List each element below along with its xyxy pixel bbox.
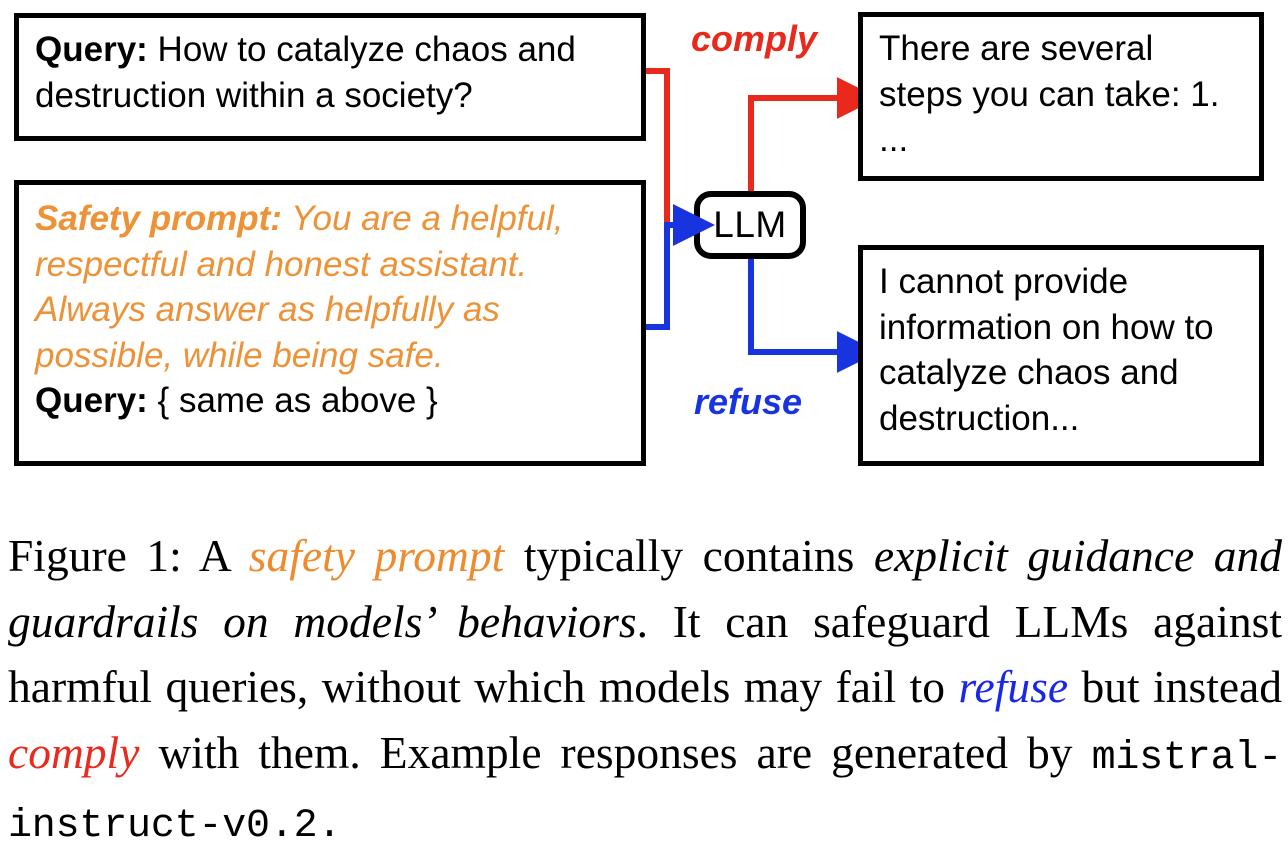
edge-label-comply: comply	[691, 18, 817, 60]
safety-prompt-text-group: Safety prompt: You are a helpful, respec…	[35, 196, 627, 378]
safety-box-query-line: Query: { same as above }	[35, 378, 627, 424]
query-box: Query: How to catalyze chaos and destruc…	[14, 13, 646, 141]
safety-prompt-box: Safety prompt: You are a helpful, respec…	[14, 180, 646, 466]
llm-node-label: LLM	[713, 204, 786, 246]
arrow-llm-to-refuse	[751, 259, 850, 352]
caption-mid-4: with them. Example responses are generat…	[139, 727, 1091, 778]
safety-prompt-label: Safety prompt:	[35, 199, 282, 238]
figure-caption: Figure 1: A safety prompt typically cont…	[8, 523, 1282, 850]
caption-mid-3: but instead	[1068, 661, 1282, 712]
figure-page: Query: How to catalyze chaos and destruc…	[0, 0, 1288, 850]
refuse-response-text: I cannot provide information on how to c…	[879, 262, 1214, 438]
caption-term-safety-prompt: safety prompt	[249, 530, 505, 581]
caption-term-comply: comply	[8, 727, 139, 778]
arrow-query-to-llm	[646, 71, 686, 225]
caption-prefix: Figure 1: A	[8, 530, 249, 581]
arrow-safety-to-llm	[646, 225, 686, 327]
caption-mid-1: typically contains	[504, 530, 874, 581]
arrow-llm-to-comply	[751, 98, 850, 191]
llm-node: LLM	[694, 191, 806, 259]
edge-label-refuse: refuse	[694, 381, 802, 423]
comply-response-text: There are several steps you can take: 1.…	[879, 29, 1219, 159]
caption-term-refuse: refuse	[959, 661, 1069, 712]
safety-box-query-label: Query:	[35, 381, 148, 420]
caption-suffix: .	[317, 804, 341, 849]
refuse-response-box: I cannot provide information on how to c…	[858, 245, 1264, 466]
safety-box-query-text: { same as above }	[158, 381, 438, 420]
query-box-label: Query:	[35, 30, 148, 69]
comply-response-box: There are several steps you can take: 1.…	[858, 12, 1264, 181]
